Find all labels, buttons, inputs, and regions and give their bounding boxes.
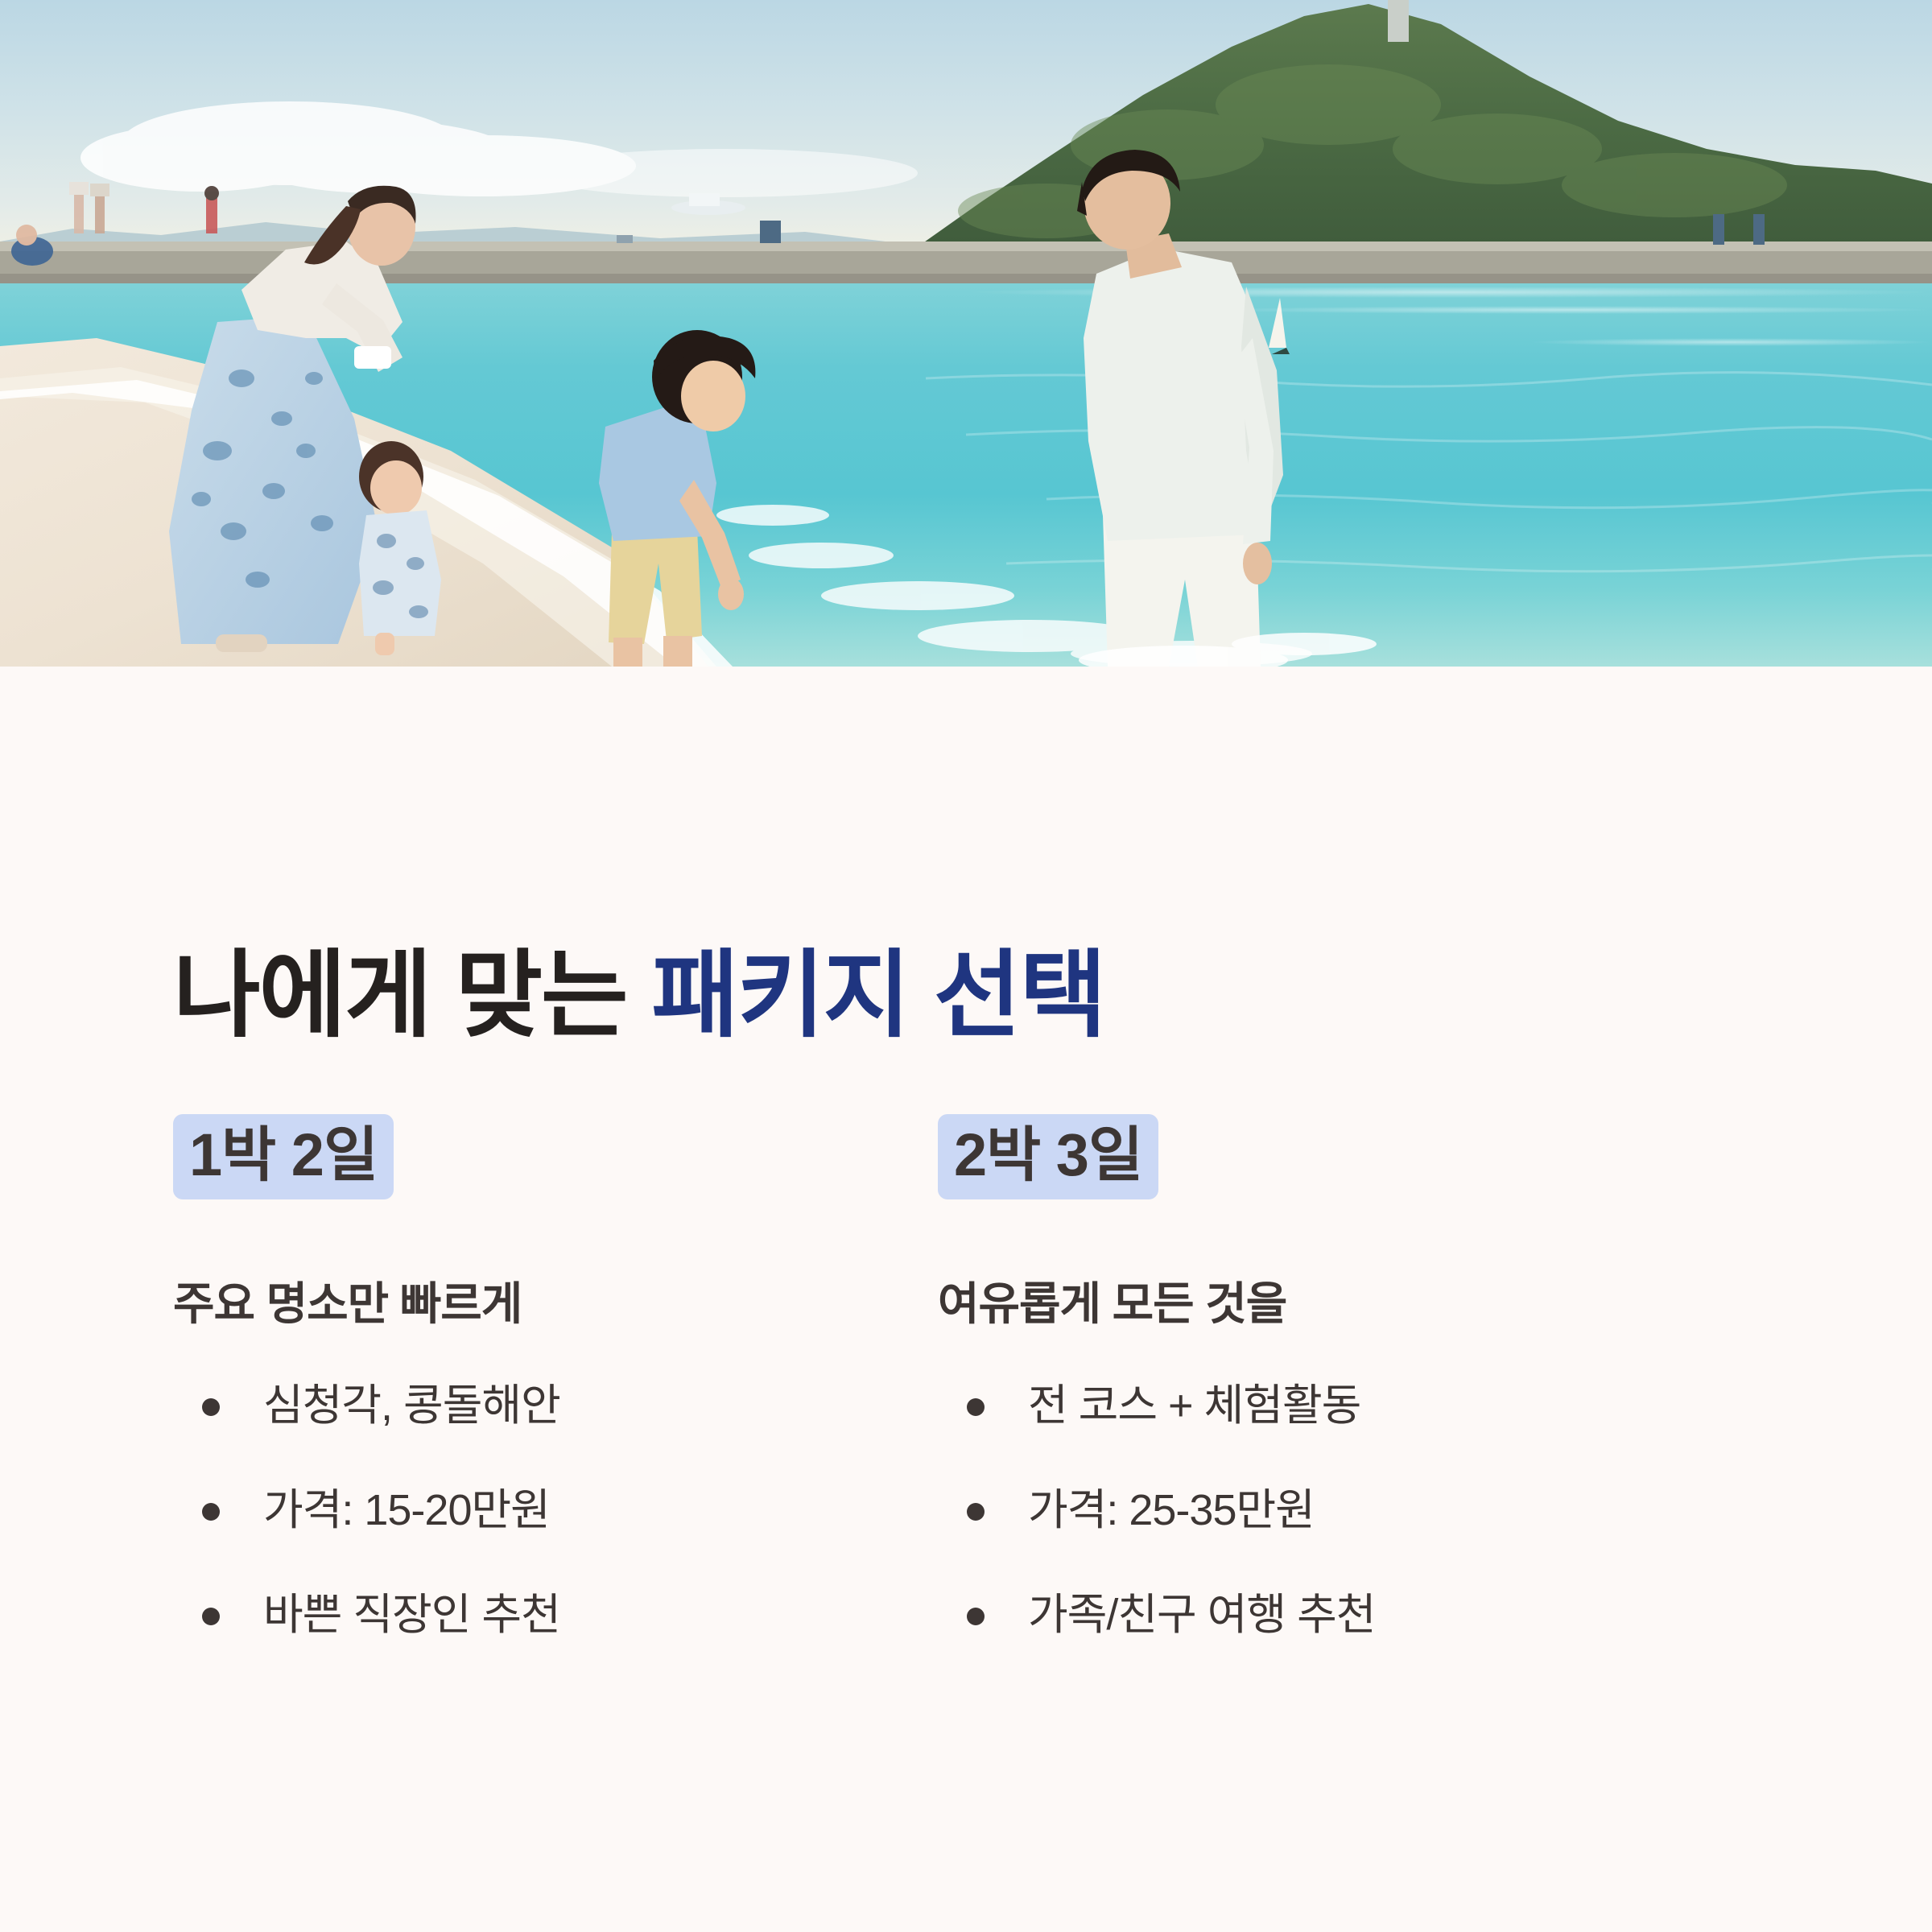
bullet-text: 가격: 15-20만원 (263, 1486, 550, 1534)
bullet-dot-icon (967, 1503, 985, 1521)
bullet-text: 바쁜 직장인 추천 (263, 1591, 560, 1639)
package-badge-2: 2박 3일 (938, 1114, 1158, 1199)
bullet-dot-icon (967, 1608, 985, 1625)
package-columns: 1박 2일 주요 명소만 빠르게 심청각, 콩돌해안 가격: 15-20만원 바… (0, 1114, 1932, 1698)
list-item: 심청각, 콩돌해안 (173, 1384, 877, 1427)
package-badge-1: 1박 2일 (173, 1114, 394, 1199)
package-card-2: 2박 3일 여유롭게 모든 것을 전 코스 + 체험활동 가격: 25-35만원… (877, 1114, 1755, 1698)
package-subhead-1: 주요 명소만 빠르게 (173, 1277, 877, 1331)
bullet-text: 심청각, 콩돌해안 (263, 1381, 560, 1430)
package-card-1: 1박 2일 주요 명소만 빠르게 심청각, 콩돌해안 가격: 15-20만원 바… (0, 1114, 877, 1698)
package-subhead-2: 여유롭게 모든 것을 (938, 1277, 1755, 1331)
bullet-dot-icon (202, 1608, 220, 1625)
hero-beach-photo (0, 0, 1932, 667)
beach-scene-illustration (0, 0, 1932, 667)
bullet-dot-icon (202, 1503, 220, 1521)
package-bullets-1: 심청각, 콩돌해안 가격: 15-20만원 바쁜 직장인 추천 (173, 1384, 877, 1637)
badge-row-2: 2박 3일 (938, 1114, 1755, 1235)
list-item: 바쁜 직장인 추천 (173, 1593, 877, 1637)
list-item: 가격: 15-20만원 (173, 1488, 877, 1532)
child-hand (718, 578, 744, 610)
badge-row-1: 1박 2일 (173, 1114, 877, 1235)
bullet-dot-icon (967, 1398, 985, 1416)
toddler-dress (359, 510, 441, 636)
page-title-plain: 나에게 맞는 (173, 943, 651, 1049)
list-item: 가족/친구 여행 추천 (938, 1593, 1755, 1637)
content-area: 나에게 맞는 패키지 선택 1박 2일 주요 명소만 빠르게 심청각, 콩돌해안… (0, 667, 1932, 1932)
poster-page: 나에게 맞는 패키지 선택 1박 2일 주요 명소만 빠르게 심청각, 콩돌해안… (0, 0, 1932, 1932)
package-bullets-2: 전 코스 + 체험활동 가격: 25-35만원 가족/친구 여행 추천 (938, 1384, 1755, 1637)
man-hand (1243, 543, 1272, 584)
list-item: 가격: 25-35만원 (938, 1488, 1755, 1532)
mother-foot (216, 634, 267, 652)
child-face (681, 361, 745, 431)
bullet-text: 가족/친구 여행 추천 (1028, 1591, 1375, 1639)
bullet-text: 전 코스 + 체험활동 (1028, 1381, 1360, 1430)
lighthouse-tower (1388, 0, 1409, 42)
bullet-dot-icon (202, 1398, 220, 1416)
page-title-accent: 패키지 선택 (651, 943, 1105, 1049)
list-item: 전 코스 + 체험활동 (938, 1384, 1755, 1427)
toddler-face (370, 460, 422, 515)
bullet-text: 가격: 25-35만원 (1028, 1486, 1315, 1534)
page-title: 나에게 맞는 패키지 선택 (173, 941, 1105, 1051)
